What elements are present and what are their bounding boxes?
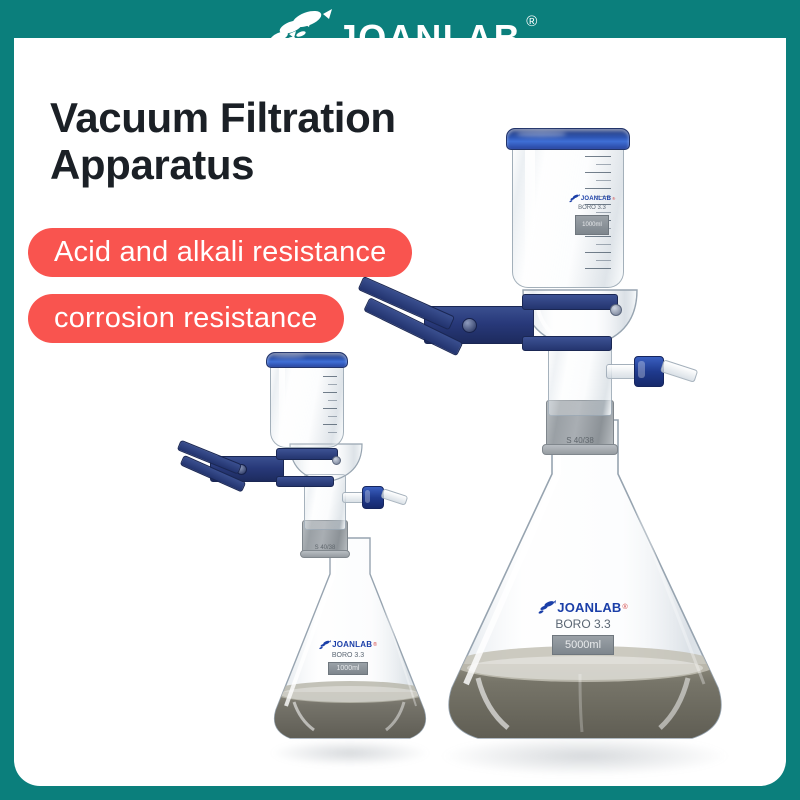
graduation-marks-large [513, 140, 623, 287]
feature-badge-label: Acid and alkali resistance [54, 236, 386, 269]
page-title: Vacuum Filtration Apparatus [50, 94, 396, 188]
product-image-large-apparatus: JOANLAB ® BORO 3.3 5000ml S 40/38 [390, 128, 750, 786]
side-arm-cap-large [634, 356, 664, 387]
page-title-line2: Apparatus [50, 141, 396, 188]
clamp-lower-jaw-large [522, 336, 612, 351]
product-image-small-apparatus: JOANLAB ® BORO 3.3 1000ml S 40/38 [192, 352, 422, 782]
white-content-card: JOANLAB ® Vacuum Filtration Apparatus Ac… [14, 0, 786, 786]
clamp-screw-icon [332, 456, 341, 465]
funnel-material-text: BORO 3.3 [563, 205, 621, 211]
registered-trademark-icon: ® [612, 197, 615, 201]
funnel-brand-name: JOANLAB [581, 196, 611, 202]
fish-logo-icon [569, 194, 580, 203]
clamp-lower-jaw-small [276, 476, 334, 487]
hose-barb-large [660, 359, 698, 382]
graduation-marks-small [271, 360, 343, 447]
erlenmeyer-flask-large [430, 416, 740, 760]
clamp-screw-icon [610, 304, 622, 316]
joint-collar-large [542, 444, 618, 455]
feature-badge-label: corrosion resistance [54, 302, 318, 335]
feature-badge-corrosion-resistance: corrosion resistance [28, 294, 344, 343]
funnel-lid-large [506, 128, 630, 150]
page-title-line1: Vacuum Filtration [50, 94, 396, 141]
funnel-lid-small [266, 352, 348, 368]
product-banner-page: JOANLAB ® Vacuum Filtration Apparatus Ac… [0, 0, 800, 800]
funnel-volume-label: 1000ml [575, 215, 609, 235]
clamp-pivot-icon [462, 318, 477, 333]
feature-badge-acid-alkali-resistance: Acid and alkali resistance [28, 228, 412, 277]
brand-header-banner: JOANLAB ® [14, 0, 786, 78]
clamp-upper-jaw-small [276, 448, 338, 460]
clamp-upper-jaw-large [522, 294, 618, 310]
filter-funnel-cup-large: JOANLAB ® BORO 3.3 1000ml [512, 140, 624, 288]
filter-funnel-cup-small [270, 360, 344, 448]
registered-trademark-icon: ® [526, 13, 537, 30]
joint-collar-small [300, 550, 350, 558]
funnel-brand-label-large: JOANLAB ® BORO 3.3 1000ml [563, 194, 621, 235]
